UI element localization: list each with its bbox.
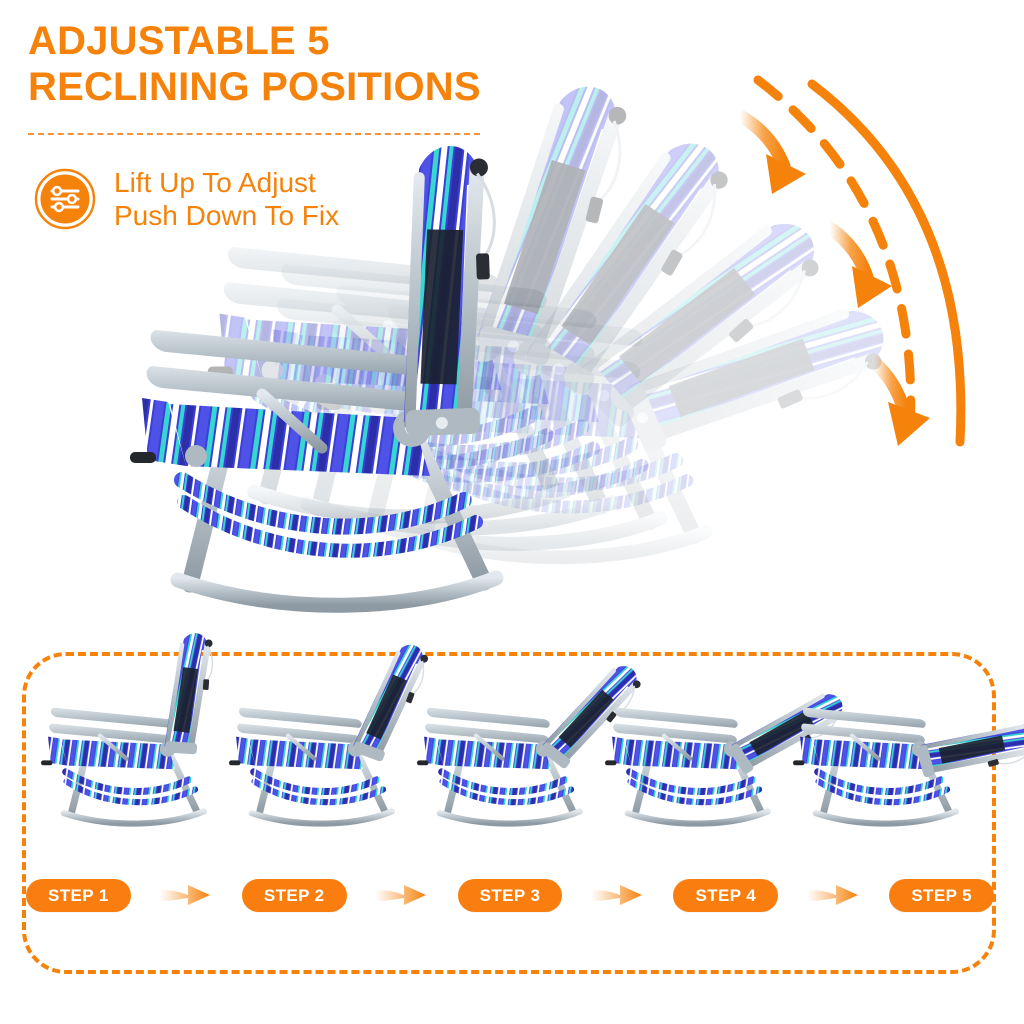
step-badge-5[interactable]: STEP 5 [889, 879, 994, 912]
motion-arrow-3 [874, 362, 930, 446]
thumb-step-3 [417, 654, 647, 823]
motion-arrow-1 [740, 116, 806, 194]
infographic-root: ADJUSTABLE 5 RECLINING POSITIONS Lift Up… [0, 0, 1024, 1024]
step-badge-3[interactable]: STEP 3 [458, 879, 563, 912]
step-label-row: STEP 1 STEP 2 STEP 3 [26, 872, 994, 918]
step-badge-1[interactable]: STEP 1 [26, 879, 131, 912]
arrow-right-icon [160, 880, 212, 910]
arrow-right-icon [592, 880, 644, 910]
step-badge-4[interactable]: STEP 4 [673, 879, 778, 912]
step-badge-2[interactable]: STEP 2 [242, 879, 347, 912]
step-thumbnails [26, 668, 996, 858]
arrow-right-icon [808, 880, 860, 910]
hero-illustration [0, 70, 1024, 640]
arrow-right-icon [376, 880, 428, 910]
